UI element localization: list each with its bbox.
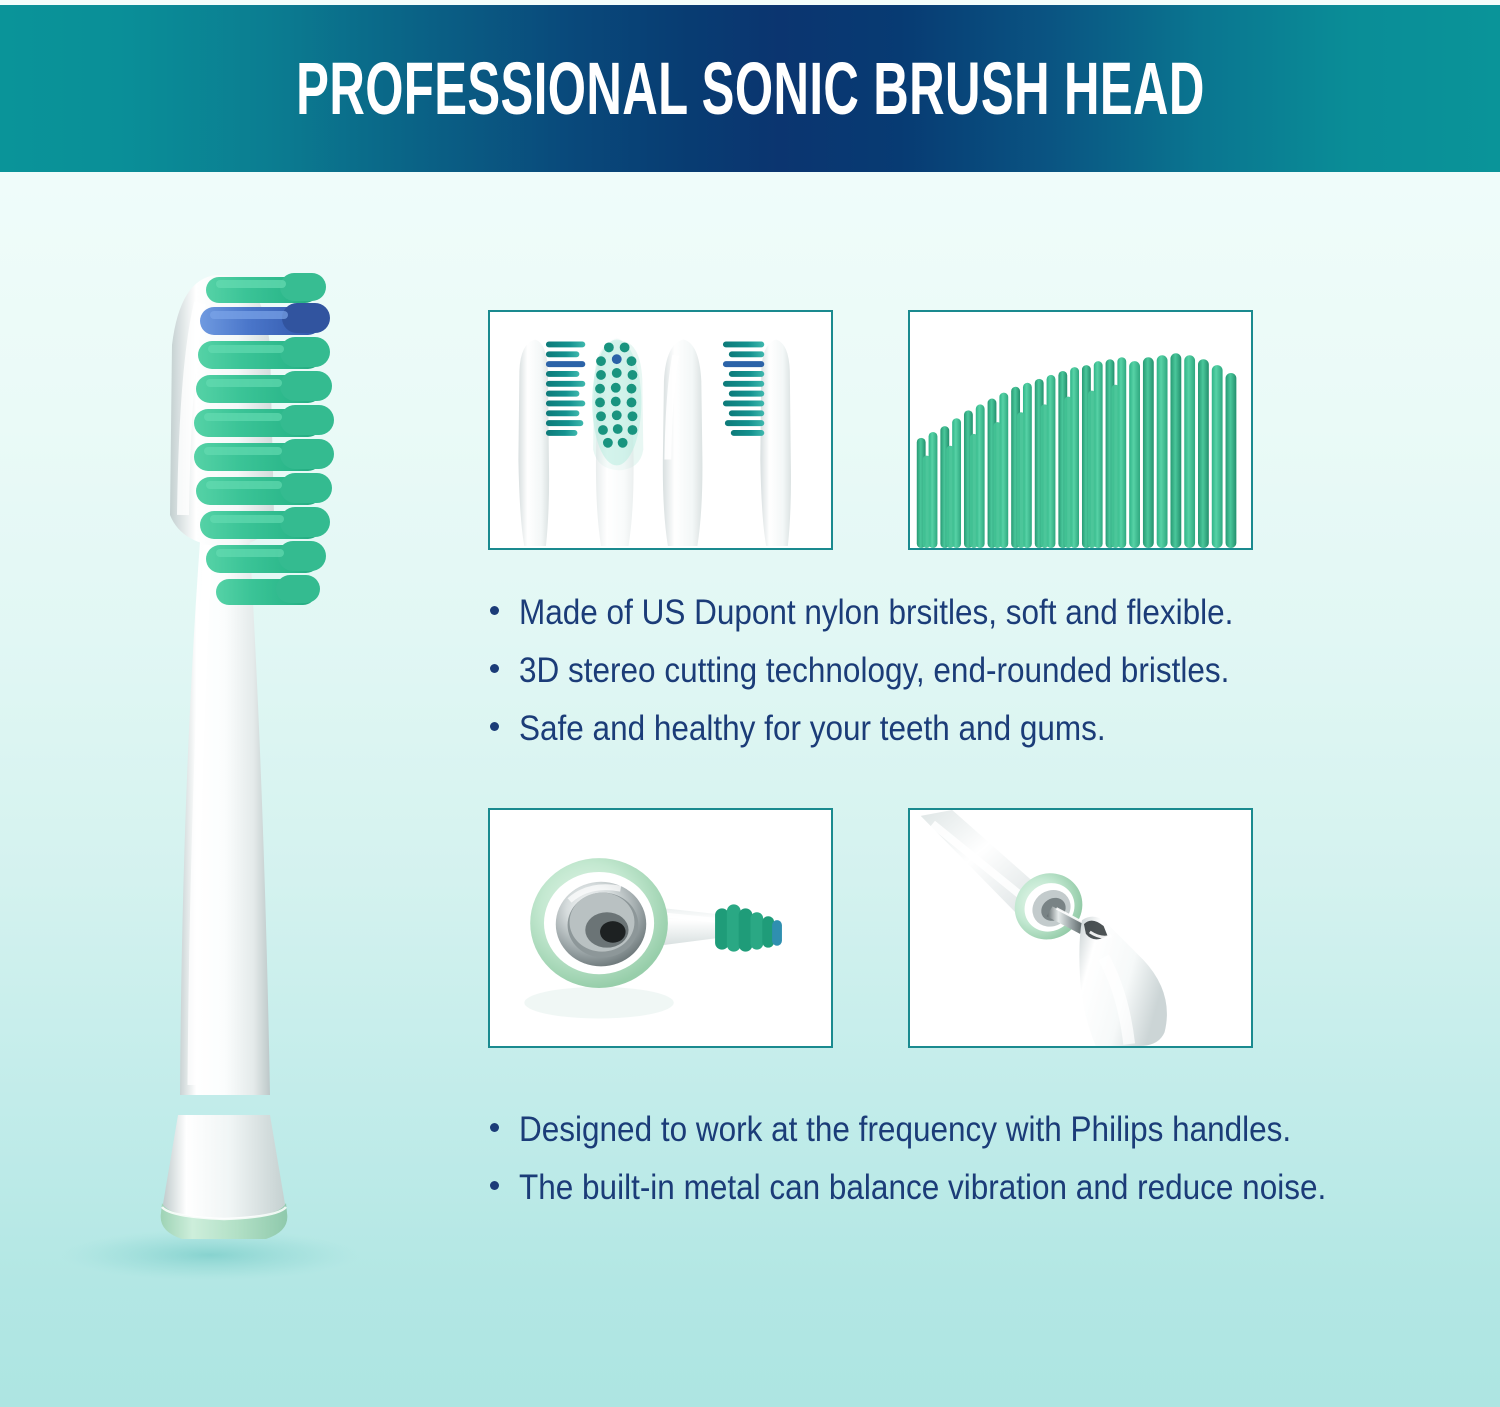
header-banner: PROFESSIONAL SONIC BRUSH HEAD [0,5,1500,172]
hero-brush-head-image [30,215,450,1305]
connector-illustration [490,810,831,1046]
handle-attachment-illustration [910,810,1251,1046]
list-item: Made of US Dupont nylon brsitles, soft a… [490,595,1313,630]
list-item: Safe and healthy for your teeth and gums… [490,711,1313,746]
connector-drive-hole [600,921,626,943]
page-title: PROFESSIONAL SONIC BRUSH HEAD [296,46,1205,131]
hero-illustration [30,215,450,1305]
list-item-label: The built-in metal can balance vibration… [519,1170,1326,1205]
list-item: Designed to work at the frequency with P… [490,1112,1416,1147]
product-infographic: PROFESSIONAL SONIC BRUSH HEAD [0,0,1500,1407]
photo-four-brush-heads [488,310,833,550]
photo-brush-head-connector [488,808,833,1048]
bullet-dot-icon [490,1181,499,1190]
photo-row-bottom [488,808,1278,1058]
photo-handle-attachment [908,808,1253,1048]
feature-list-top: Made of US Dupont nylon brsitles, soft a… [490,595,1313,769]
bullet-dot-icon [490,664,499,673]
photo-row-top [488,310,1278,560]
brush-back-view [663,340,703,547]
photo-bristle-tips-macro [908,310,1253,550]
list-item-label: Designed to work at the frequency with P… [519,1112,1291,1147]
bristle-macro-illustration [910,312,1251,548]
four-brush-heads-illustration [490,312,831,548]
list-item: The built-in metal can balance vibration… [490,1170,1416,1205]
list-item-label: Made of US Dupont nylon brsitles, soft a… [519,595,1233,630]
list-item-label: 3D stereo cutting technology, end-rounde… [519,653,1229,688]
bullet-dot-icon [490,1123,499,1132]
bullet-dot-icon [490,606,499,615]
list-item: 3D stereo cutting technology, end-rounde… [490,653,1313,688]
feature-list-bottom: Designed to work at the frequency with P… [490,1112,1416,1228]
bullet-dot-icon [490,722,499,731]
list-item-label: Safe and healthy for your teeth and gums… [519,711,1106,746]
hero-indicator-bristle-row [200,303,330,335]
